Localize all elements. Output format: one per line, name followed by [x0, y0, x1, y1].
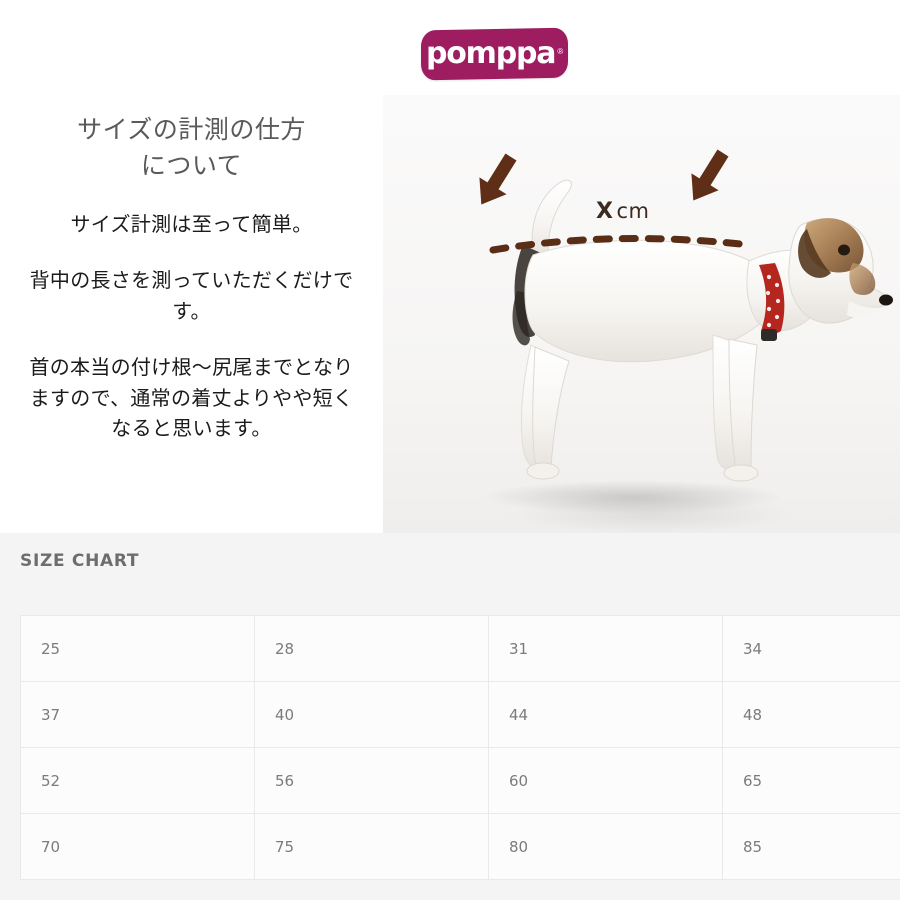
table-cell: 28: [255, 616, 489, 682]
table-cell: 34: [723, 616, 900, 682]
ground-shadow: [483, 480, 783, 514]
measurement-unit: cm: [616, 199, 649, 223]
page-title-line-1: サイズの計測の仕方: [77, 116, 306, 144]
dog-nose: [879, 295, 893, 306]
arrow-down-left-icon: [468, 149, 525, 213]
size-chart-body: 25 28 31 34 37 40 44 48 52 56 60 65 70 7…: [21, 616, 900, 880]
pomppa-logo[interactable]: pomppa ®: [421, 28, 568, 81]
table-cell: 40: [255, 682, 489, 748]
table-cell: 48: [723, 682, 900, 748]
table-row: 52 56 60 65: [21, 748, 900, 814]
size-chart-band: SIZE CHART: [0, 533, 900, 615]
measurement-value: X: [596, 199, 613, 224]
logo-inner: pomppa ®: [426, 39, 563, 69]
info-paragraph-3: 首の本当の付け根〜尻尾までとなりますので、通常の着丈よりやや短くなると思います。: [22, 353, 361, 444]
info-paragraph-2: 背中の長さを測っていただくだけです。: [22, 266, 361, 327]
registered-mark-icon: ®: [557, 48, 563, 56]
top-strip: pomppa ®: [0, 0, 900, 95]
table-cell: 85: [723, 814, 900, 880]
table-cell: 37: [21, 682, 255, 748]
table-cell: 75: [255, 814, 489, 880]
table-cell: 44: [489, 682, 723, 748]
table-cell: 31: [489, 616, 723, 682]
size-chart-table: 25 28 31 34 37 40 44 48 52 56 60 65 70 7…: [20, 615, 900, 880]
dog-illustration: [383, 95, 900, 533]
info-paragraph-1: サイズ計測は至って簡単。: [22, 210, 361, 240]
dog-front-paw: [724, 465, 758, 481]
dog-collar-buckle: [761, 329, 777, 341]
table-cell: 56: [255, 748, 489, 814]
dog-hind-paw: [527, 463, 559, 479]
info-panel: サイズの計測の仕方 について サイズ計測は至って簡単。 背中の長さを測っていただ…: [0, 95, 383, 533]
logo-wordmark: pomppa: [426, 39, 555, 69]
size-chart-heading: SIZE CHART: [20, 551, 139, 571]
dog-svg: [383, 95, 900, 533]
dog-eye: [838, 245, 850, 256]
table-cell: 65: [723, 748, 900, 814]
table-cell: 70: [21, 814, 255, 880]
dog-hind-leg-near: [533, 347, 569, 473]
table-cell: 60: [489, 748, 723, 814]
arrow-down-right-icon: [680, 145, 737, 209]
table-cell: 52: [21, 748, 255, 814]
page-title-line-2: について: [141, 152, 242, 180]
dog-photo-panel: Xcm: [383, 95, 900, 533]
table-row: 25 28 31 34: [21, 616, 900, 682]
page-title: サイズの計測の仕方 について: [22, 113, 361, 184]
measurement-label: Xcm: [596, 199, 649, 224]
table-cell: 80: [489, 814, 723, 880]
table-row: 70 75 80 85: [21, 814, 900, 880]
table-row: 37 40 44 48: [21, 682, 900, 748]
table-cell: 25: [21, 616, 255, 682]
